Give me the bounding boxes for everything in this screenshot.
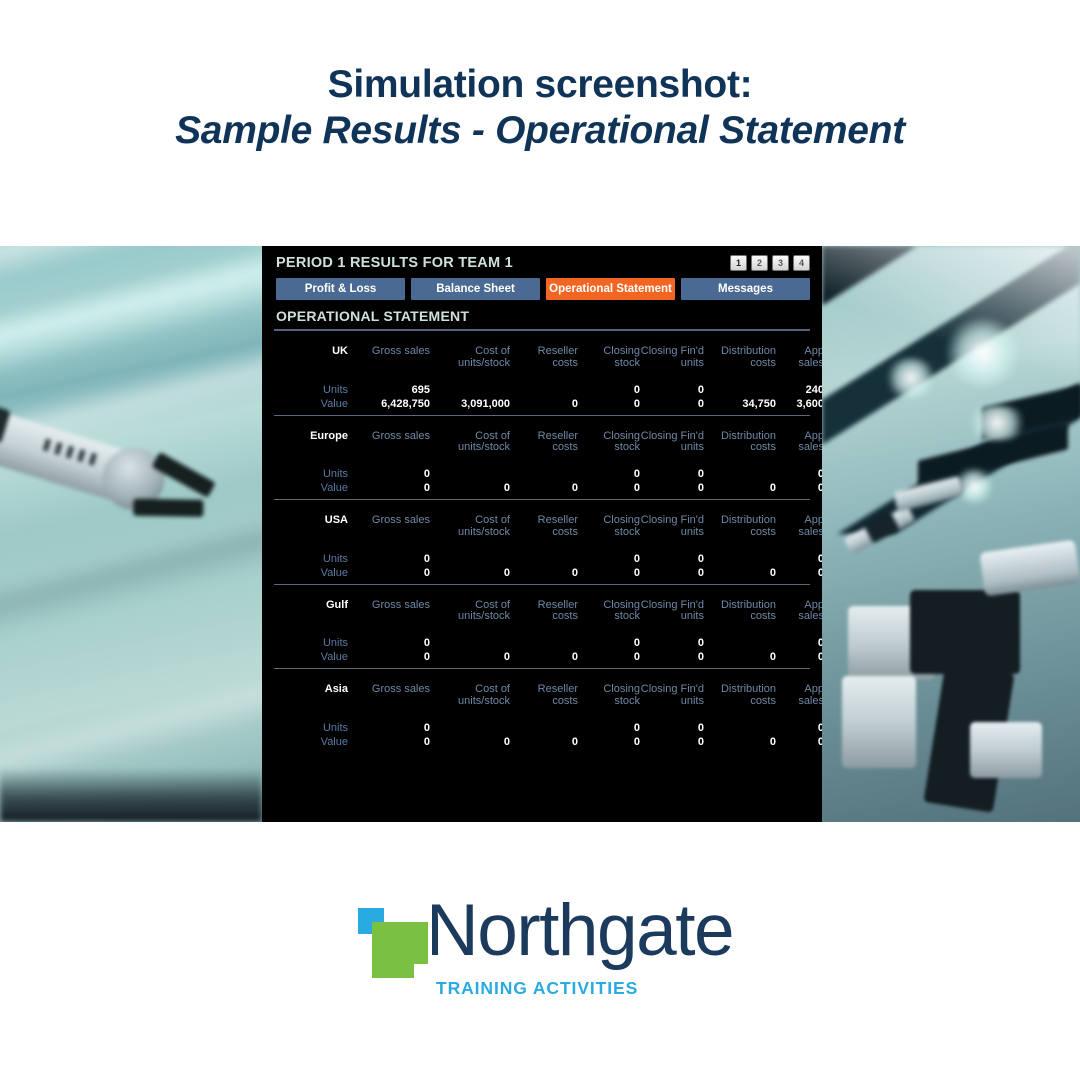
row-label-value: Value xyxy=(274,397,348,411)
cell-units-closing-find: 0 xyxy=(640,383,704,397)
cell-units-closing-find: 0 xyxy=(640,721,704,735)
cell-value-distribution: 0 xyxy=(704,735,776,749)
cell-units-reseller xyxy=(510,552,578,566)
cell-value-reseller: 0 xyxy=(510,566,578,580)
table-row-units: Units 0 0 0 0 xyxy=(274,467,824,481)
col-header-closing-find-units: Closing Fin'd units xyxy=(640,431,704,455)
pager-button-2[interactable]: 2 xyxy=(751,255,768,271)
region-name-asia: Asia xyxy=(274,684,348,708)
col-header-cost-of-units-stock: Cost of units/stock xyxy=(430,600,510,624)
cell-value-cost: 0 xyxy=(430,481,510,495)
col-header-distribution-costs: Distribution costs xyxy=(704,515,776,539)
cell-value-closing-stock: 0 xyxy=(578,650,640,664)
table-row-value: Value 0 0 0 0 0 0 0 xyxy=(274,735,824,749)
col-header-closing-stock: Closing stock xyxy=(578,431,640,455)
col-header-gross-sales: Gross sales xyxy=(348,684,430,708)
cell-value-distribution: 0 xyxy=(704,650,776,664)
cell-units-reseller xyxy=(510,721,578,735)
region-name-europe: Europe xyxy=(274,431,348,455)
cell-units-reseller xyxy=(510,467,578,481)
cell-units-app-sales: 0 xyxy=(776,721,824,735)
table-row-units: Units 695 0 0 240 xyxy=(274,383,824,397)
row-label-units: Units xyxy=(274,467,348,481)
section-title: OPERATIONAL STATEMENT xyxy=(272,300,812,329)
row-label-units: Units xyxy=(274,636,348,650)
cell-units-closing-stock: 0 xyxy=(578,467,640,481)
cell-units-reseller xyxy=(510,383,578,397)
cell-units-closing-stock: 0 xyxy=(578,721,640,735)
table-row-value: Value 0 0 0 0 0 0 0 xyxy=(274,566,824,580)
cell-units-distribution xyxy=(704,721,776,735)
col-header-distribution-costs: Distribution costs xyxy=(704,346,776,370)
region-block-europe: Europe Gross sales Cost of units/stock R… xyxy=(274,416,810,501)
table-row-units: Units 0 0 0 0 xyxy=(274,552,824,566)
cell-units-closing-find: 0 xyxy=(640,552,704,566)
screenshot-band: PERIOD 1 RESULTS FOR TEAM 1 1 2 3 4 Prof… xyxy=(0,246,1080,822)
cell-units-distribution xyxy=(704,467,776,481)
cell-units-gross-sales: 0 xyxy=(348,721,430,735)
cell-value-closing-stock: 0 xyxy=(578,735,640,749)
cell-value-cost: 0 xyxy=(430,650,510,664)
row-label-units: Units xyxy=(274,721,348,735)
cell-value-app-sales: 0 xyxy=(776,481,824,495)
col-header-closing-stock: Closing stock xyxy=(578,600,640,624)
page-title: Simulation screenshot: Sample Results - … xyxy=(0,0,1080,154)
cell-value-app-sales: 0 xyxy=(776,735,824,749)
col-header-cost-of-units-stock: Cost of units/stock xyxy=(430,515,510,539)
page-pager[interactable]: 1 2 3 4 xyxy=(730,255,810,271)
ceiling-lamp xyxy=(884,358,938,398)
col-header-distribution-costs: Distribution costs xyxy=(704,600,776,624)
col-header-closing-stock: Closing stock xyxy=(578,346,640,370)
row-label-value: Value xyxy=(274,481,348,495)
cell-units-reseller xyxy=(510,636,578,650)
row-label-units: Units xyxy=(274,552,348,566)
pager-button-3[interactable]: 3 xyxy=(772,255,789,271)
col-header-app-sales: App sales xyxy=(776,431,824,455)
row-label-value: Value xyxy=(274,735,348,749)
cell-value-distribution: 0 xyxy=(704,481,776,495)
col-header-reseller-costs: Reseller costs xyxy=(510,346,578,370)
col-header-gross-sales: Gross sales xyxy=(348,431,430,455)
col-header-app-sales: App sales xyxy=(776,600,824,624)
cell-value-reseller: 0 xyxy=(510,650,578,664)
app-header-title: PERIOD 1 RESULTS FOR TEAM 1 xyxy=(276,255,513,271)
col-header-closing-find-units: Closing Fin'd units xyxy=(640,684,704,708)
col-header-app-sales: App sales xyxy=(776,515,824,539)
robot-arm-photo-left xyxy=(0,246,262,822)
cell-units-closing-stock: 0 xyxy=(578,636,640,650)
col-header-distribution-costs: Distribution costs xyxy=(704,684,776,708)
cell-units-cost xyxy=(430,467,510,481)
cell-value-gross-sales: 0 xyxy=(348,481,430,495)
logo-tagline: TRAINING ACTIVITIES xyxy=(436,978,638,999)
region-table: Gulf Gross sales Cost of units/stock Res… xyxy=(274,600,824,665)
title-line-2: Sample Results - Operational Statement xyxy=(0,108,1080,154)
cell-value-closing-find: 0 xyxy=(640,735,704,749)
cell-units-distribution xyxy=(704,636,776,650)
ceiling-lamp xyxy=(964,406,1030,440)
cell-units-closing-find: 0 xyxy=(640,467,704,481)
cell-value-app-sales: 0 xyxy=(776,650,824,664)
application-panel: PERIOD 1 RESULTS FOR TEAM 1 1 2 3 4 Prof… xyxy=(262,246,822,822)
row-label-value: Value xyxy=(274,566,348,580)
cell-units-cost xyxy=(430,552,510,566)
region-name-usa: USA xyxy=(274,515,348,539)
region-table: Europe Gross sales Cost of units/stock R… xyxy=(274,431,824,496)
region-table: Asia Gross sales Cost of units/stock Res… xyxy=(274,684,824,749)
table-row-value: Value 0 0 0 0 0 0 0 xyxy=(274,481,824,495)
operational-statement-blocks: UK Gross sales Cost of units/stock Resel… xyxy=(272,331,812,749)
cell-units-cost xyxy=(430,636,510,650)
logo-wordmark: Northgate xyxy=(426,894,733,967)
cell-units-gross-sales: 695 xyxy=(348,383,430,397)
tab-bar[interactable]: Profit & Loss Balance Sheet Operational … xyxy=(272,275,812,300)
cell-value-cost: 3,091,000 xyxy=(430,397,510,411)
cell-value-closing-find: 0 xyxy=(640,566,704,580)
northgate-logo: Northgate TRAINING ACTIVITIES xyxy=(0,900,1080,1012)
title-line-1: Simulation screenshot: xyxy=(0,62,1080,108)
cell-value-gross-sales: 0 xyxy=(348,650,430,664)
col-header-distribution-costs: Distribution costs xyxy=(704,431,776,455)
region-name-uk: UK xyxy=(274,346,348,370)
cell-units-app-sales: 240 xyxy=(776,383,824,397)
col-header-cost-of-units-stock: Cost of units/stock xyxy=(430,684,510,708)
col-header-reseller-costs: Reseller costs xyxy=(510,684,578,708)
col-header-cost-of-units-stock: Cost of units/stock xyxy=(430,431,510,455)
cell-value-gross-sales: 0 xyxy=(348,566,430,580)
cell-value-app-sales: 3,600 xyxy=(776,397,824,411)
cell-value-closing-stock: 0 xyxy=(578,397,640,411)
factory-robot-unit xyxy=(842,572,1042,822)
cell-value-reseller: 0 xyxy=(510,397,578,411)
cell-units-closing-stock: 0 xyxy=(578,552,640,566)
cell-value-reseller: 0 xyxy=(510,481,578,495)
table-row-units: Units 0 0 0 0 xyxy=(274,636,824,650)
col-header-app-sales: App sales xyxy=(776,346,824,370)
col-header-reseller-costs: Reseller costs xyxy=(510,431,578,455)
cell-value-closing-stock: 0 xyxy=(578,481,640,495)
table-row-units: Units 0 0 0 0 xyxy=(274,721,824,735)
col-header-closing-find-units: Closing Fin'd units xyxy=(640,515,704,539)
region-block-uk: UK Gross sales Cost of units/stock Resel… xyxy=(274,331,810,416)
tab-balance-sheet[interactable]: Balance Sheet xyxy=(411,278,540,300)
cell-value-app-sales: 0 xyxy=(776,566,824,580)
col-header-reseller-costs: Reseller costs xyxy=(510,515,578,539)
region-block-gulf: Gulf Gross sales Cost of units/stock Res… xyxy=(274,585,810,670)
tab-profit-and-loss[interactable]: Profit & Loss xyxy=(276,278,405,300)
ceiling-lamp xyxy=(944,318,1022,388)
pager-button-1[interactable]: 1 xyxy=(730,255,747,271)
cell-units-distribution xyxy=(704,383,776,397)
cell-value-gross-sales: 6,428,750 xyxy=(348,397,430,411)
col-header-gross-sales: Gross sales xyxy=(348,346,430,370)
cell-units-app-sales: 0 xyxy=(776,467,824,481)
cell-units-app-sales: 0 xyxy=(776,636,824,650)
cell-value-closing-find: 0 xyxy=(640,650,704,664)
row-label-value: Value xyxy=(274,650,348,664)
region-block-asia: Asia Gross sales Cost of units/stock Res… xyxy=(274,669,810,749)
floor-shadow xyxy=(0,768,262,822)
col-header-closing-find-units: Closing Fin'd units xyxy=(640,346,704,370)
cell-value-distribution: 34,750 xyxy=(704,397,776,411)
cell-units-closing-stock: 0 xyxy=(578,383,640,397)
col-header-closing-find-units: Closing Fin'd units xyxy=(640,600,704,624)
table-row-value: Value 6,428,750 3,091,000 0 0 0 34,750 3… xyxy=(274,397,824,411)
cell-value-closing-find: 0 xyxy=(640,397,704,411)
factory-robots-photo-right xyxy=(822,246,1080,822)
cell-value-distribution: 0 xyxy=(704,566,776,580)
region-table: USA Gross sales Cost of units/stock Rese… xyxy=(274,515,824,580)
secondary-robot-arm xyxy=(979,540,1080,597)
cell-units-app-sales: 0 xyxy=(776,552,824,566)
region-block-usa: USA Gross sales Cost of units/stock Rese… xyxy=(274,500,810,585)
col-header-closing-stock: Closing stock xyxy=(578,684,640,708)
cell-units-distribution xyxy=(704,552,776,566)
tab-operational-statement[interactable]: Operational Statement xyxy=(546,278,675,300)
cell-units-gross-sales: 0 xyxy=(348,467,430,481)
col-header-cost-of-units-stock: Cost of units/stock xyxy=(430,346,510,370)
cell-units-cost xyxy=(430,383,510,397)
cell-units-cost xyxy=(430,721,510,735)
cell-value-gross-sales: 0 xyxy=(348,735,430,749)
col-header-app-sales: App sales xyxy=(776,684,824,708)
col-header-reseller-costs: Reseller costs xyxy=(510,600,578,624)
pager-button-4[interactable]: 4 xyxy=(793,255,810,271)
row-label-units: Units xyxy=(274,383,348,397)
region-table: UK Gross sales Cost of units/stock Resel… xyxy=(274,346,824,411)
cell-value-reseller: 0 xyxy=(510,735,578,749)
col-header-gross-sales: Gross sales xyxy=(348,600,430,624)
cell-units-gross-sales: 0 xyxy=(348,552,430,566)
table-row-value: Value 0 0 0 0 0 0 0 xyxy=(274,650,824,664)
region-name-gulf: Gulf xyxy=(274,600,348,624)
tab-messages[interactable]: Messages xyxy=(681,278,810,300)
cell-units-gross-sales: 0 xyxy=(348,636,430,650)
cell-units-closing-find: 0 xyxy=(640,636,704,650)
app-header: PERIOD 1 RESULTS FOR TEAM 1 1 2 3 4 xyxy=(272,246,812,275)
col-header-gross-sales: Gross sales xyxy=(348,515,430,539)
cell-value-closing-find: 0 xyxy=(640,481,704,495)
cell-value-cost: 0 xyxy=(430,735,510,749)
cell-value-closing-stock: 0 xyxy=(578,566,640,580)
robotic-arm-illustration xyxy=(0,392,229,553)
cell-value-cost: 0 xyxy=(430,566,510,580)
col-header-closing-stock: Closing stock xyxy=(578,515,640,539)
